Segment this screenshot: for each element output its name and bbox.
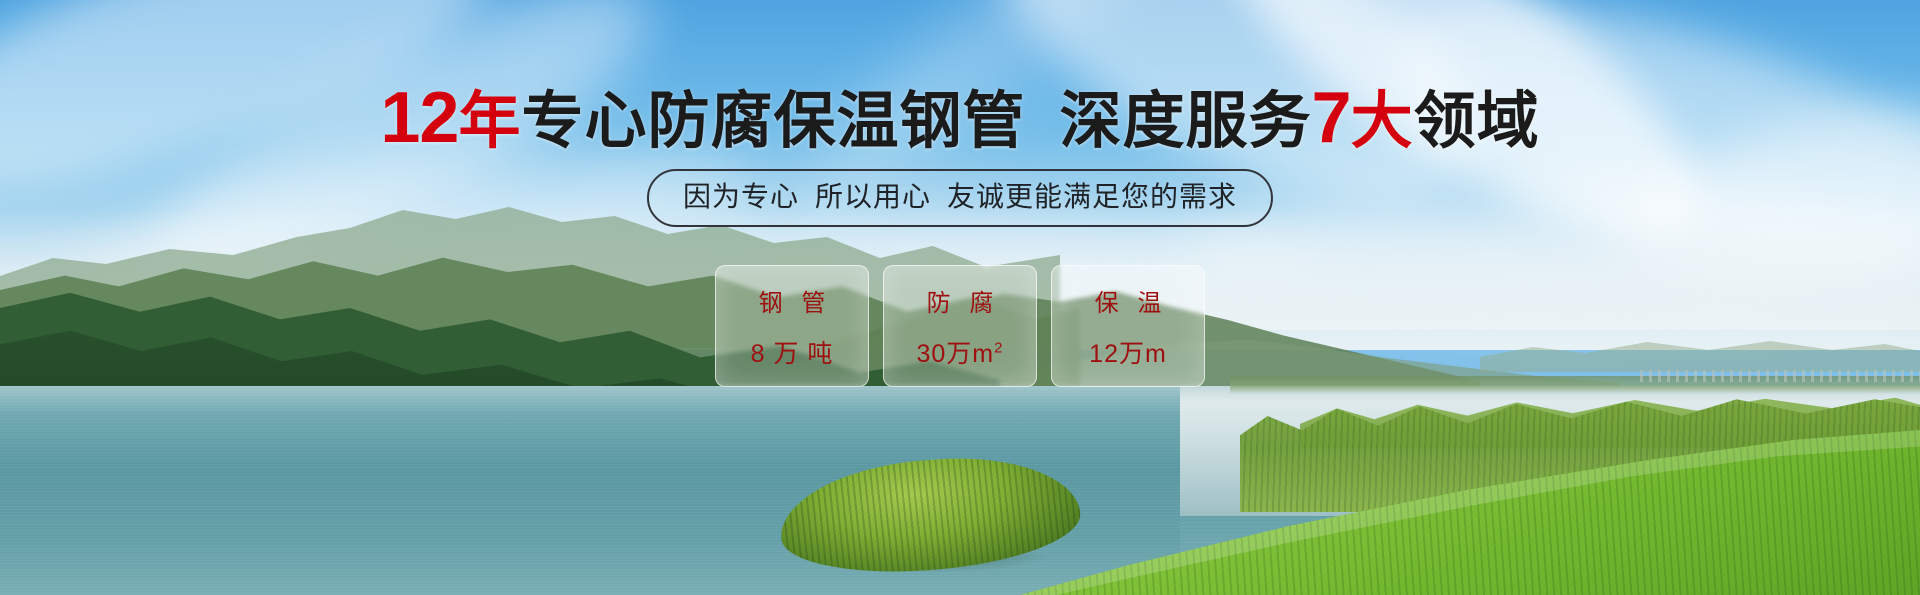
headline-years-unit: 年 xyxy=(458,87,521,156)
headline-fields-number: 7 xyxy=(1312,78,1351,158)
stat-card-value-text: 30万m xyxy=(917,340,995,368)
headline: 12年专心防腐保温钢管深度服务7大领域 xyxy=(0,82,1920,154)
stat-card-steel-pipe: 钢 管 8 万 吨 xyxy=(715,265,869,387)
stat-card-value: 30万m2 xyxy=(917,334,1004,370)
headline-fields-tail: 领域 xyxy=(1414,87,1540,156)
stat-card-title: 钢 管 xyxy=(753,283,832,318)
tagline-part-3: 友诚更能满足您的需求 xyxy=(947,181,1237,212)
stat-card-value-superscript: 2 xyxy=(994,339,1003,356)
tagline-part-2: 所以用心 xyxy=(815,181,931,212)
tagline-part-1: 因为专心 xyxy=(683,181,799,212)
headline-main-text: 专心防腐保温钢管 xyxy=(522,87,1026,156)
stat-card-title: 防 腐 xyxy=(921,283,1000,318)
headline-service-text: 深度服务 xyxy=(1060,87,1312,156)
stat-card-value: 12万m xyxy=(1089,334,1167,370)
banner-content: 12年专心防腐保温钢管深度服务7大领域 因为专心所以用心友诚更能满足您的需求 钢… xyxy=(0,0,1920,595)
headline-years-number: 12 xyxy=(380,78,458,158)
tagline-pill: 因为专心所以用心友诚更能满足您的需求 xyxy=(647,169,1273,227)
stat-card-insulation: 保 温 12万m xyxy=(1051,265,1205,387)
stat-card-value: 8 万 吨 xyxy=(751,334,834,370)
stat-card-list: 钢 管 8 万 吨 防 腐 30万m2 保 温 12万m xyxy=(715,265,1205,387)
headline-fields-unit: 大 xyxy=(1351,87,1414,156)
stat-card-value-text: 8 万 吨 xyxy=(751,340,834,368)
stat-card-title: 保 温 xyxy=(1089,283,1168,318)
stat-card-value-text: 12万m xyxy=(1089,340,1167,368)
hero-banner: 12年专心防腐保温钢管深度服务7大领域 因为专心所以用心友诚更能满足您的需求 钢… xyxy=(0,0,1920,595)
stat-card-anticorrosion: 防 腐 30万m2 xyxy=(883,265,1037,387)
